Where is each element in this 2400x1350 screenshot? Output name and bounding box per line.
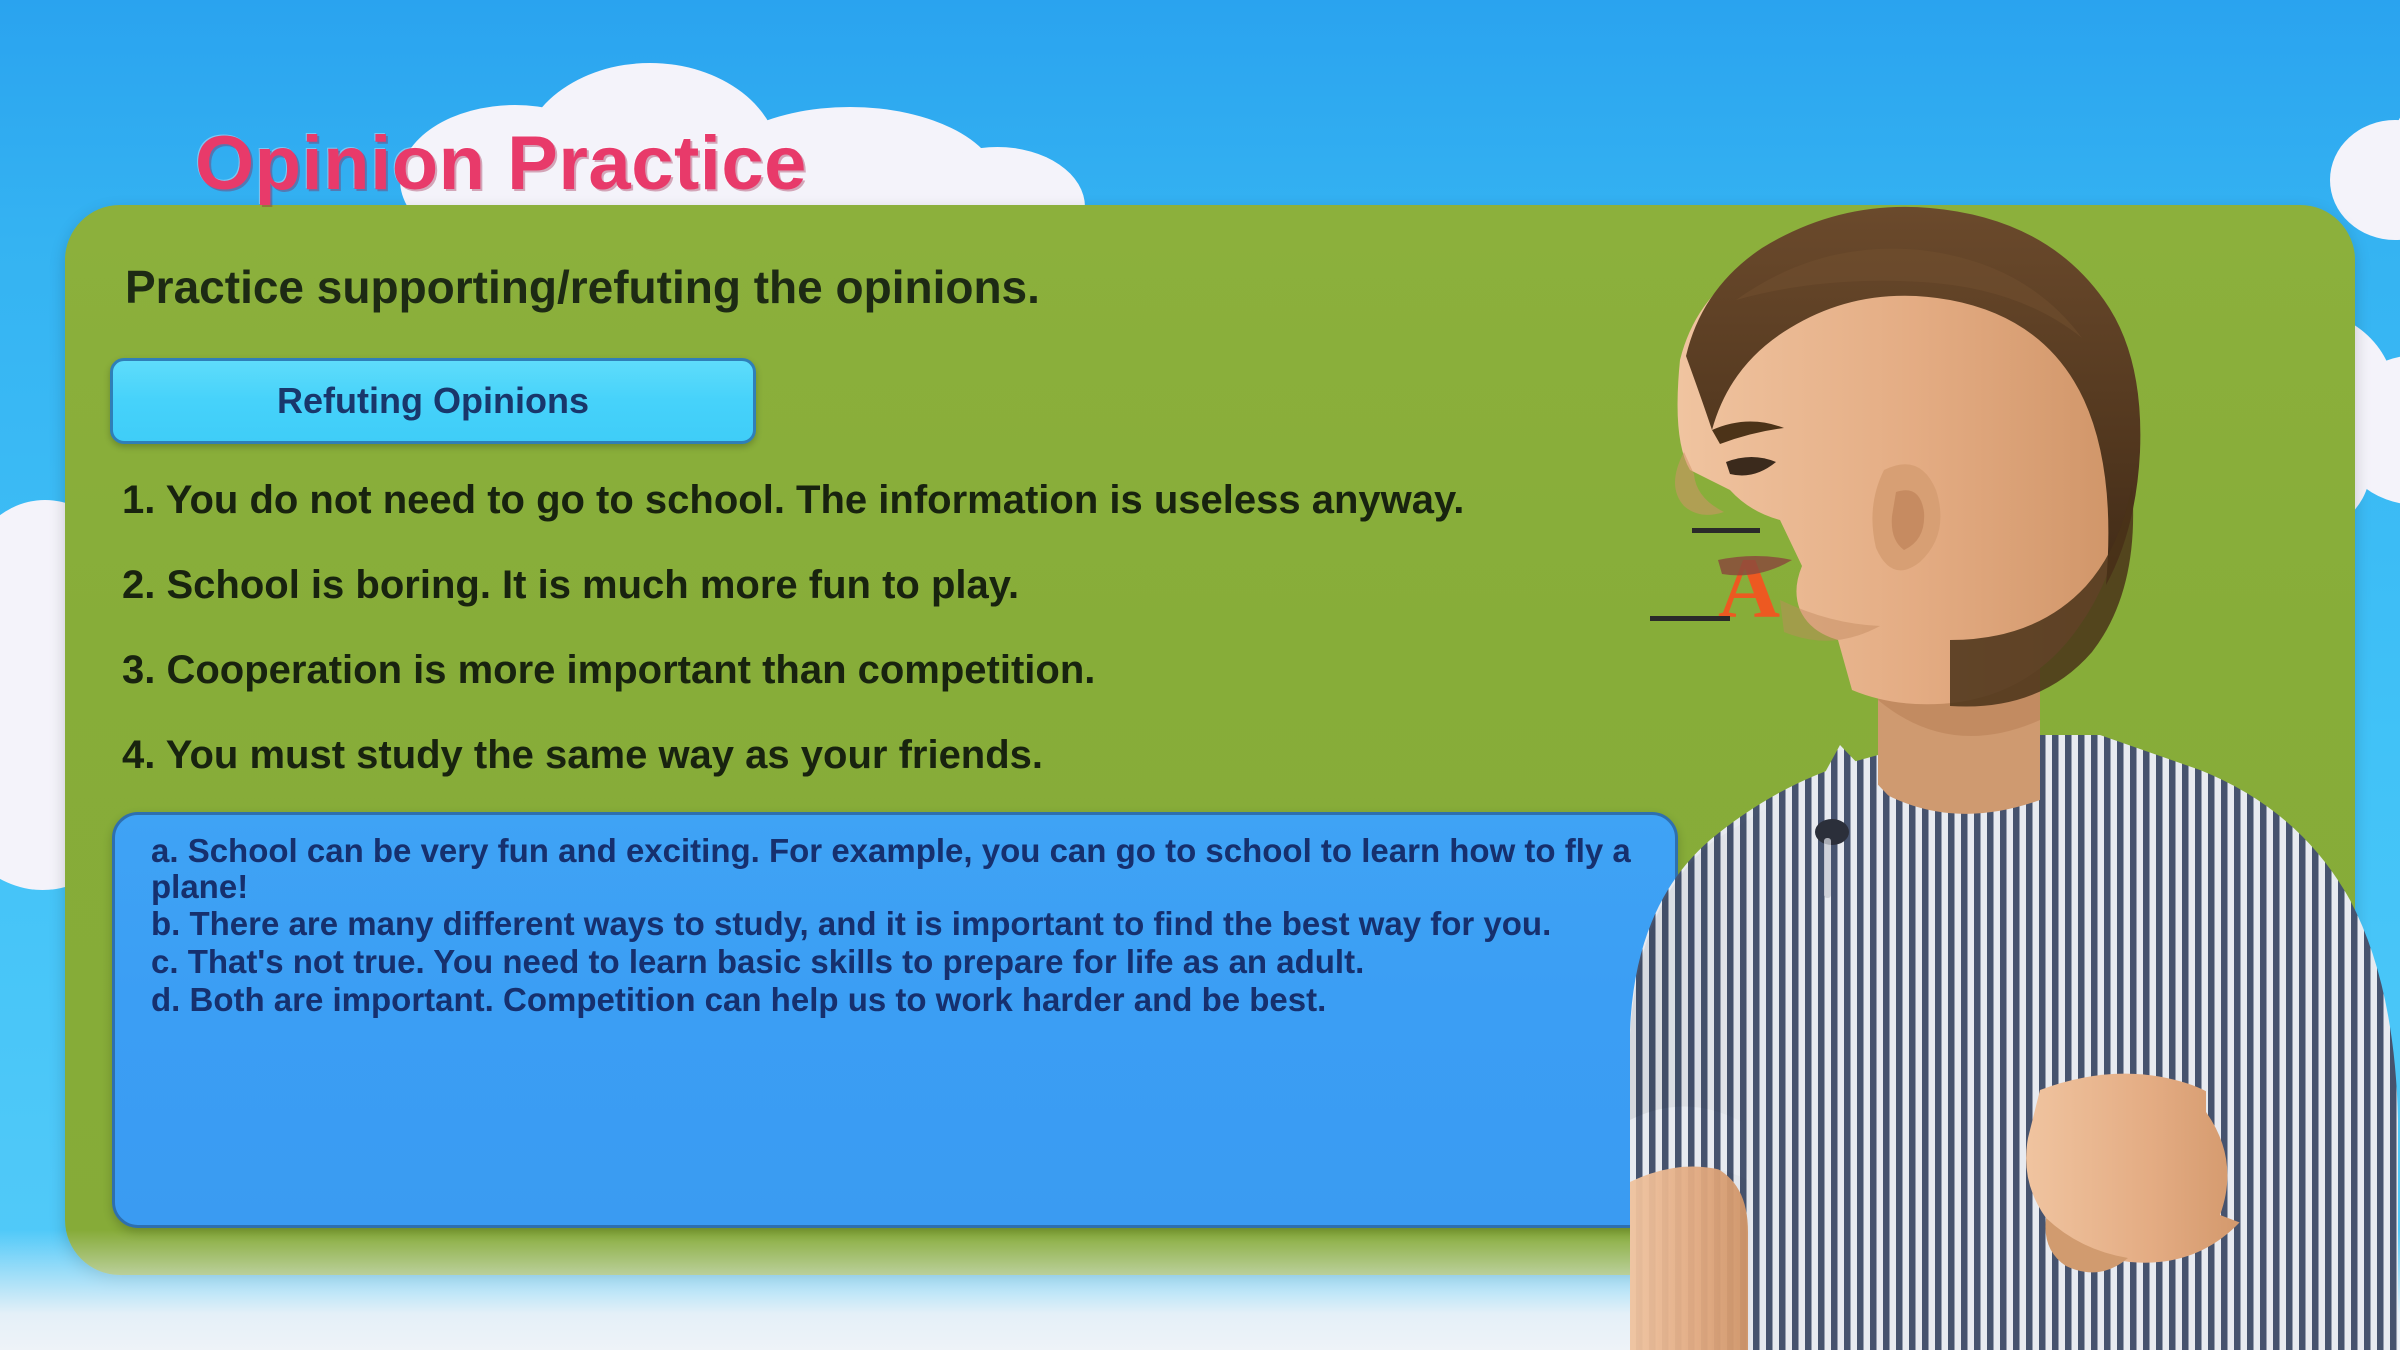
answer-list: a. School can be very fun and exciting. …	[151, 833, 1665, 1019]
presenter-illustration-icon	[1480, 0, 2400, 1350]
list-item: a. School can be very fun and exciting. …	[151, 833, 1665, 904]
list-item: c. That's not true. You need to learn ba…	[151, 944, 1665, 980]
page-title: Opinion Practice	[195, 120, 807, 207]
slide-subtitle: Practice supporting/refuting the opinion…	[125, 260, 1040, 314]
presenter-person	[1480, 0, 2400, 1350]
list-item: b. There are many different ways to stud…	[151, 906, 1665, 942]
section-label-box: Refuting Opinions	[110, 358, 756, 444]
section-label-text: Refuting Opinions	[113, 380, 753, 422]
answer-box: a. School can be very fun and exciting. …	[112, 812, 1678, 1228]
list-item: d. Both are important. Competition can h…	[151, 982, 1665, 1018]
video-frame: Opinion Practice Practice supporting/ref…	[0, 0, 2400, 1350]
